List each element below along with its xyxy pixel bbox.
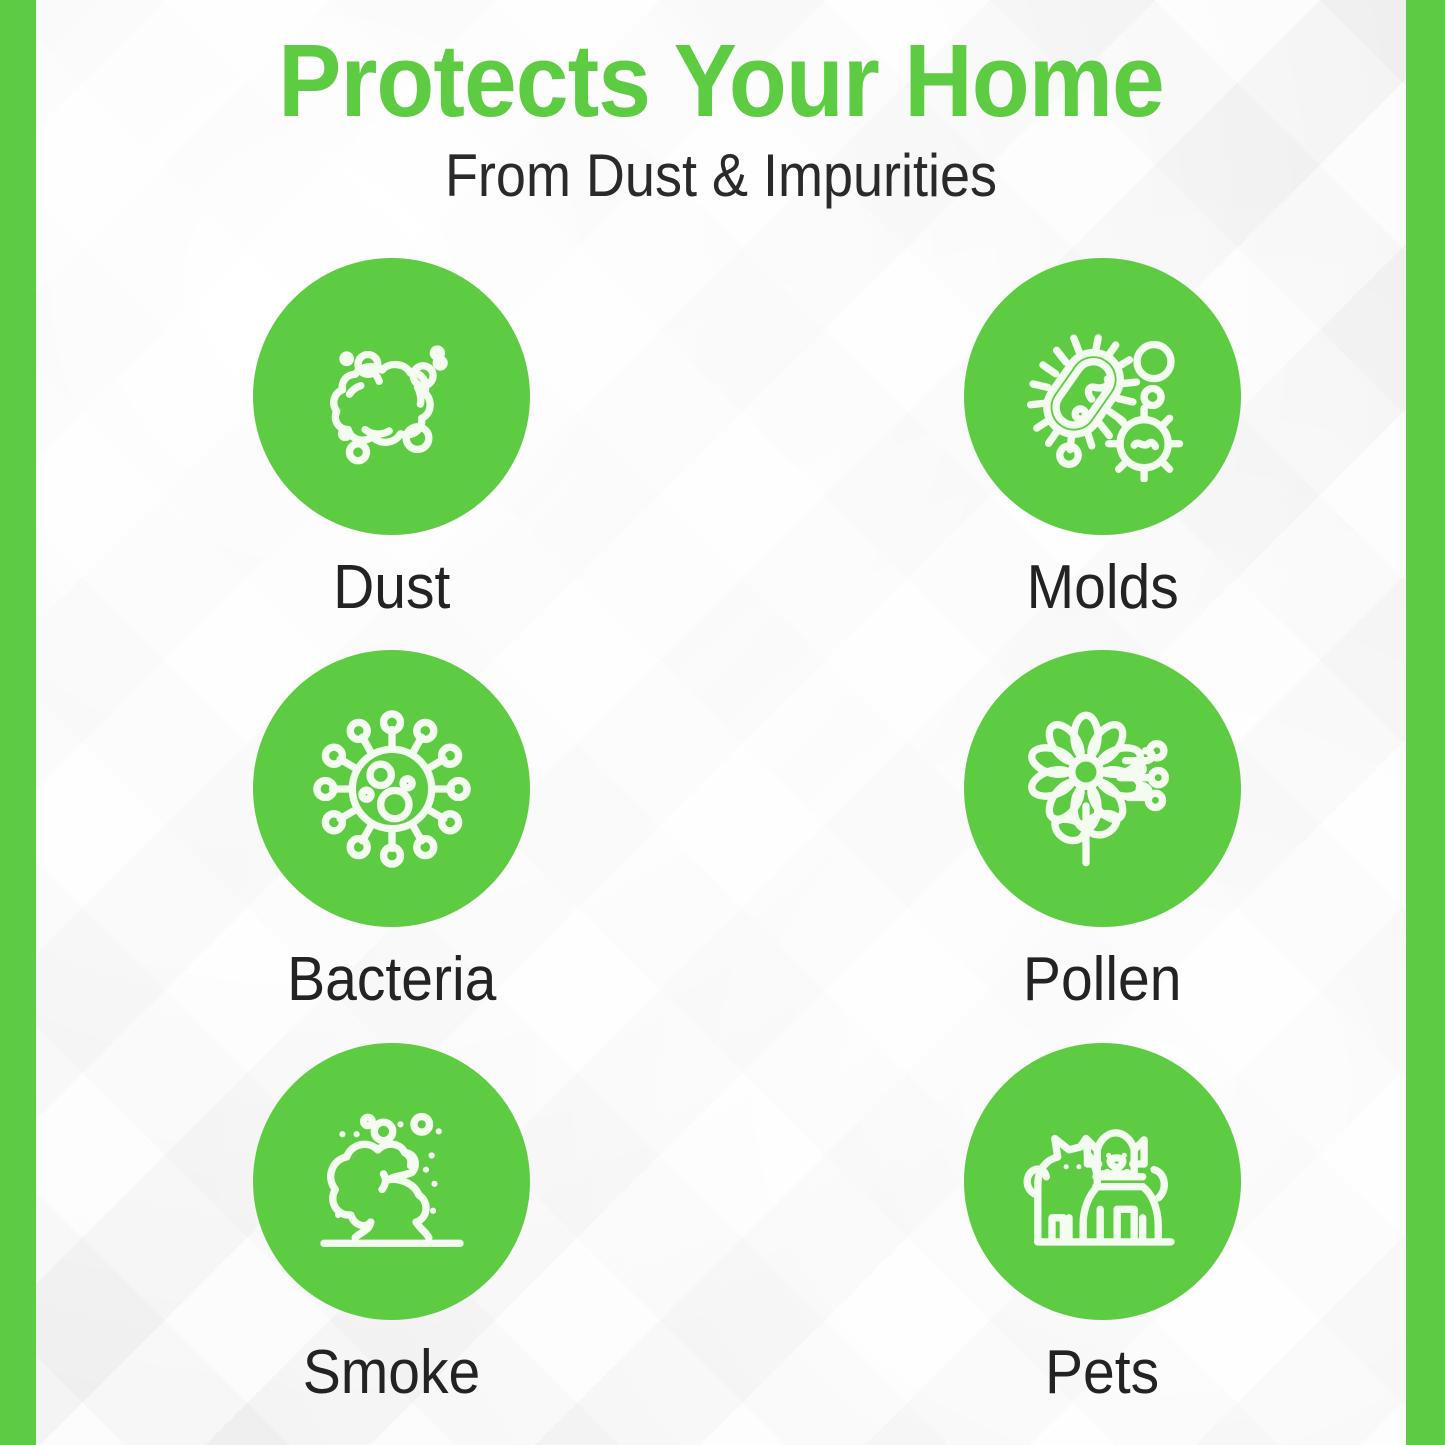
item-label: Molds [1026, 557, 1178, 619]
grid-item-pets: Pets [721, 1043, 1406, 1435]
molds-badge [964, 258, 1241, 535]
pets-badge [964, 1043, 1241, 1320]
item-label: Pets [1045, 1342, 1159, 1404]
item-label: Dust [333, 557, 450, 619]
smoke-badge [253, 1043, 530, 1320]
dust-cloud-particles-icon [307, 312, 477, 482]
grid-item-molds: Molds [721, 258, 1406, 650]
right-green-border [1406, 0, 1445, 1445]
header-block: Protects Your Home From Dust & Impuritie… [36, 26, 1406, 209]
pollen-badge [964, 650, 1241, 927]
dust-badge [253, 258, 530, 535]
benefits-grid: Dust [36, 258, 1406, 1435]
grid-item-bacteria: Bacteria [36, 650, 721, 1042]
item-label: Pollen [1023, 949, 1182, 1011]
mold-bacteria-spores-icon [1018, 312, 1188, 482]
smoke-plume-icon [307, 1096, 477, 1266]
item-label: Bacteria [287, 949, 496, 1011]
grid-item-dust: Dust [36, 258, 721, 650]
grid-item-pollen: Pollen [721, 650, 1406, 1042]
left-green-border [0, 0, 36, 1445]
page-subtitle: From Dust & Impurities [105, 143, 1338, 209]
item-label: Smoke [303, 1342, 481, 1404]
flower-pollen-icon [1018, 704, 1188, 874]
dog-and-cat-icon [1018, 1096, 1188, 1266]
infographic-poster: Protects Your Home From Dust & Impuritie… [0, 0, 1445, 1445]
bacteria-badge [253, 650, 530, 927]
virus-germ-icon [307, 704, 477, 874]
page-title: Protects Your Home [91, 26, 1351, 135]
grid-item-smoke: Smoke [36, 1043, 721, 1435]
